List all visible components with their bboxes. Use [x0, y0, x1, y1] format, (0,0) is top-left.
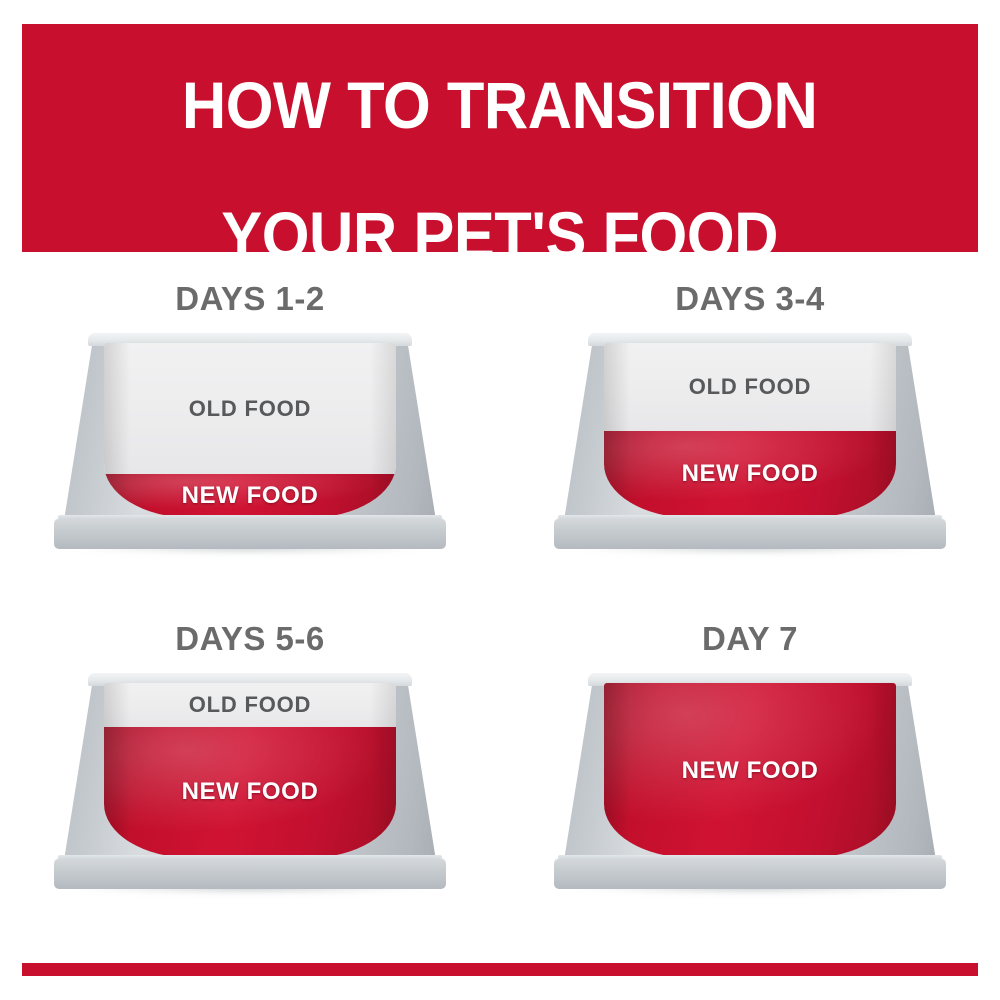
new-food-portion: NEW FOOD	[104, 474, 396, 518]
pet-food-bowl: OLD FOOD NEW FOOD	[562, 333, 938, 561]
step-card-days-1-2: DAYS 1-2 OLD FOOD NEW FOOD	[0, 268, 500, 608]
bowl-base	[54, 518, 446, 549]
page-title: HOW TO TRANSITION YOUR PET'S FOOD	[182, 9, 817, 268]
step-caption: DAYS 1-2	[0, 280, 500, 318]
bowl-base	[554, 858, 946, 889]
footer-red-rule	[22, 963, 978, 976]
pet-food-bowl: NEW FOOD	[562, 673, 938, 901]
pet-food-bowl: OLD FOOD NEW FOOD	[62, 673, 438, 901]
step-card-day-7: DAY 7 NEW FOOD	[500, 608, 1000, 948]
new-food-label: NEW FOOD	[682, 460, 819, 488]
new-food-portion: NEW FOOD	[104, 727, 396, 858]
transition-steps-grid: DAYS 1-2 OLD FOOD NEW FOOD DAYS	[0, 268, 1000, 948]
new-food-portion: NEW FOOD	[604, 431, 896, 519]
page-title-line-2: YOUR PET'S FOOD	[222, 198, 779, 272]
bowl-food-cavity: NEW FOOD	[604, 683, 896, 858]
bowl-base	[554, 518, 946, 549]
pet-food-bowl: OLD FOOD NEW FOOD	[62, 333, 438, 561]
step-caption: DAY 7	[500, 620, 1000, 658]
new-food-label: NEW FOOD	[682, 757, 819, 785]
bowl-food-cavity: OLD FOOD NEW FOOD	[104, 683, 396, 858]
new-food-label: NEW FOOD	[182, 778, 319, 806]
header-banner: HOW TO TRANSITION YOUR PET'S FOOD	[22, 24, 978, 252]
new-food-portion: NEW FOOD	[604, 683, 896, 858]
old-food-portion: OLD FOOD	[604, 343, 896, 431]
bowl-food-cavity: OLD FOOD NEW FOOD	[604, 343, 896, 518]
step-card-days-3-4: DAYS 3-4 OLD FOOD NEW FOOD	[500, 268, 1000, 608]
old-food-portion: OLD FOOD	[104, 343, 396, 474]
old-food-portion: OLD FOOD	[104, 683, 396, 727]
old-food-label: OLD FOOD	[689, 374, 812, 400]
bowl-base	[54, 858, 446, 889]
infographic-page: HOW TO TRANSITION YOUR PET'S FOOD DAYS 1…	[0, 0, 1000, 1000]
step-caption: DAYS 5-6	[0, 620, 500, 658]
old-food-label: OLD FOOD	[189, 396, 312, 422]
bowl-food-cavity: OLD FOOD NEW FOOD	[104, 343, 396, 518]
step-card-days-5-6: DAYS 5-6 OLD FOOD NEW FOOD	[0, 608, 500, 948]
step-caption: DAYS 3-4	[500, 280, 1000, 318]
old-food-label: OLD FOOD	[189, 692, 312, 718]
new-food-label: NEW FOOD	[182, 482, 319, 510]
page-title-line-1: HOW TO TRANSITION	[182, 68, 817, 142]
